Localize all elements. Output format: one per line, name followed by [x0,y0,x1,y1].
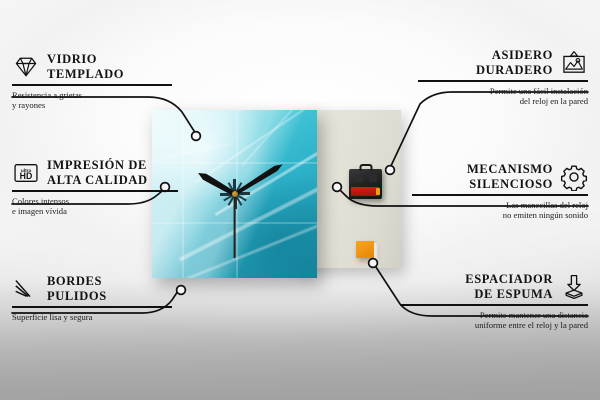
feature-description: Las manecillas del reloj no emiten ningú… [412,200,588,221]
feature-bordes-pulidos: BORDES PULIDOS Superficie lisa y segura [12,274,172,322]
connector-dot-mecanismo [333,183,342,192]
feature-description: Superficie lisa y segura [12,312,172,323]
feature-title: IMPRESIÓN DE ALTA CALIDAD [47,158,148,187]
title-rule [12,306,172,308]
title-rule [12,84,172,86]
feature-mecanismo-silencioso: MECANISMO SILENCIOSO Las manecillas del … [412,162,588,221]
feature-title: ASIDERO DURADERO [476,48,553,77]
foam-spacer-icon [560,273,588,301]
title-rule [418,80,588,82]
gear-icon [560,163,588,191]
connector-dot-asidero [386,166,395,175]
feature-title: VIDRIO TEMPLADO [47,52,124,81]
ultra-hd-icon: ultra HD [12,159,40,187]
title-rule [412,194,588,196]
feature-description: Resistencia a grietas y rayones [12,90,172,111]
feature-title: BORDES PULIDOS [47,274,107,303]
title-rule [12,190,178,192]
polished-edges-icon [12,275,40,303]
connector-dot-espaciador [369,259,378,268]
feature-impresion-alta-calidad: ultra HD IMPRESIÓN DE ALTA CALIDAD Color… [12,158,178,217]
diamond-icon [12,53,40,81]
feature-asidero-duradero: ASIDERO DURADERO Permite una fácil insta… [418,48,588,107]
feature-title: ESPACIADOR DE ESPUMA [465,272,553,301]
feature-vidrio-templado: VIDRIO TEMPLADO Resistencia a grietas y … [12,52,172,111]
title-rule [400,304,588,306]
feature-description: Permite mantener una distancia uniforme … [400,310,588,331]
feature-description: Permite una fácil instalación del reloj … [418,86,588,107]
feature-espaciador-de-espuma: ESPACIADOR DE ESPUMA Permite mantener un… [400,272,588,331]
feature-description: Colores intensos e imagen vívida [12,196,178,217]
feature-title: MECANISMO SILENCIOSO [467,162,553,191]
picture-hanger-icon [560,49,588,77]
svg-text:HD: HD [20,171,33,181]
infographic-canvas: VIDRIO TEMPLADO Resistencia a grietas y … [0,0,600,400]
connector-dot-bordes [177,286,186,295]
connector-dot-vidrio [192,132,201,141]
